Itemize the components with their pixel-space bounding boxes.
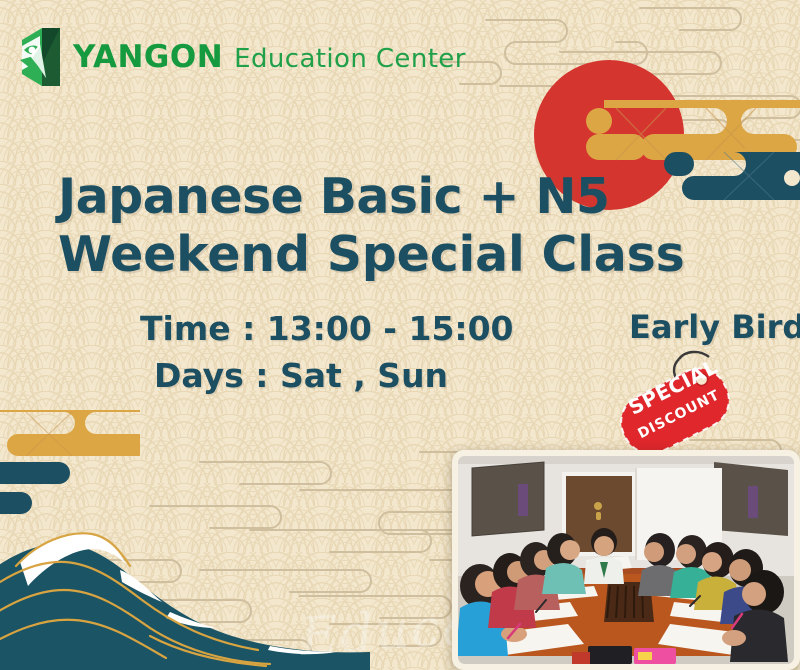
teal-bars-left [0,462,80,522]
schedule-block: Time : 13:00 - 15:00 Days : Sat , Sun [140,306,514,400]
poster-canvas: YANGON Education Center Japanese Basic +… [0,0,800,670]
schedule-days: Days : Sat , Sun [140,353,514,400]
early-bird-label: Early Bird [629,311,800,343]
headline-line-2: Weekend Special Class [58,226,718,284]
page-title: Japanese Basic + N5 Weekend Special Clas… [58,168,718,284]
logo-text-primary: YANGON [73,42,223,73]
gold-cloud-left [0,410,142,462]
special-discount-tag[interactable]: SPECIAL DISCOUNT [613,345,738,465]
headline-line-1: Japanese Basic + N5 [58,168,718,226]
discount-tag-icon [613,345,738,465]
classroom-photo-frame [452,450,800,670]
brand-logo[interactable]: YANGON Education Center [16,26,466,88]
classroom-photo-illustration [458,456,794,664]
yangon-logo-icon [16,26,66,88]
schedule-time: Time : 13:00 - 15:00 [140,306,514,353]
logo-text-secondary: Education Center [234,46,466,72]
classroom-photo [458,456,794,664]
